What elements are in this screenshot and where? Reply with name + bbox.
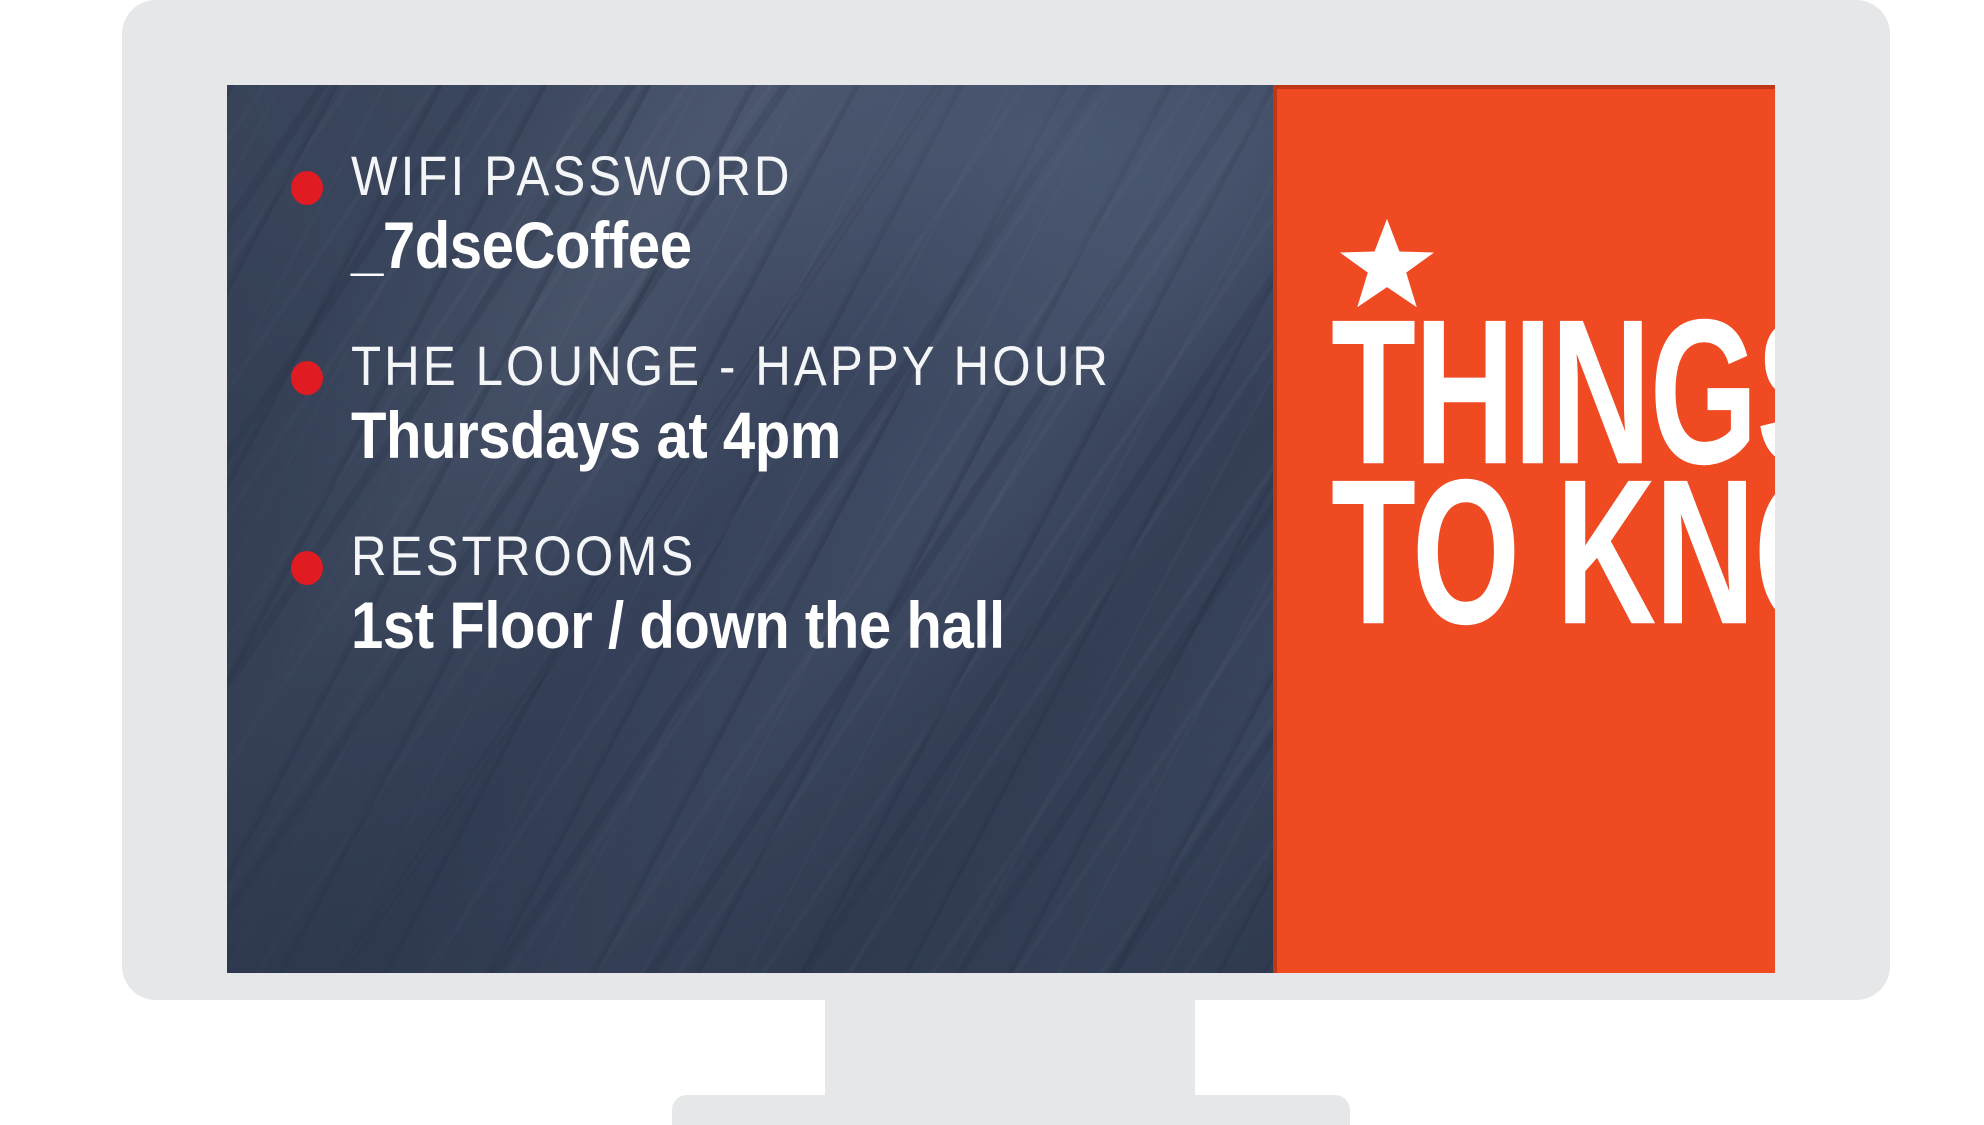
monitor-screen: WIFI PASSWORD _7dseCoffee THE LOUNGE - H… [227,85,1775,973]
info-value: _7dseCoffee [351,210,1162,281]
screenshot-root: WIFI PASSWORD _7dseCoffee THE LOUNGE - H… [0,0,1984,1125]
title-panel: THINGS TO KNOW [1273,85,1775,973]
list-item: THE LOUNGE - HAPPY HOUR Thursdays at 4pm [241,335,1273,471]
info-label: WIFI PASSWORD [351,145,1162,208]
page-title-line-2: TO KNOW [1331,467,1649,637]
list-item: RESTROOMS 1st Floor / down the hall [241,525,1273,661]
info-label: RESTROOMS [351,525,1162,588]
bullet-dot-icon [291,551,323,585]
info-list: WIFI PASSWORD _7dseCoffee THE LOUNGE - H… [227,85,1273,973]
bullet-dot-icon [291,171,323,205]
bullet-dot-icon [291,361,323,395]
monitor-stand-base [672,1095,1350,1125]
page-title: THINGS TO KNOW [1331,307,1761,621]
list-item: WIFI PASSWORD _7dseCoffee [241,145,1273,281]
info-value: Thursdays at 4pm [351,400,1162,471]
monitor-stand-neck [825,995,1195,1103]
photo-panel: WIFI PASSWORD _7dseCoffee THE LOUNGE - H… [227,85,1273,973]
info-label: THE LOUNGE - HAPPY HOUR [351,335,1162,398]
info-value: 1st Floor / down the hall [351,590,1162,661]
